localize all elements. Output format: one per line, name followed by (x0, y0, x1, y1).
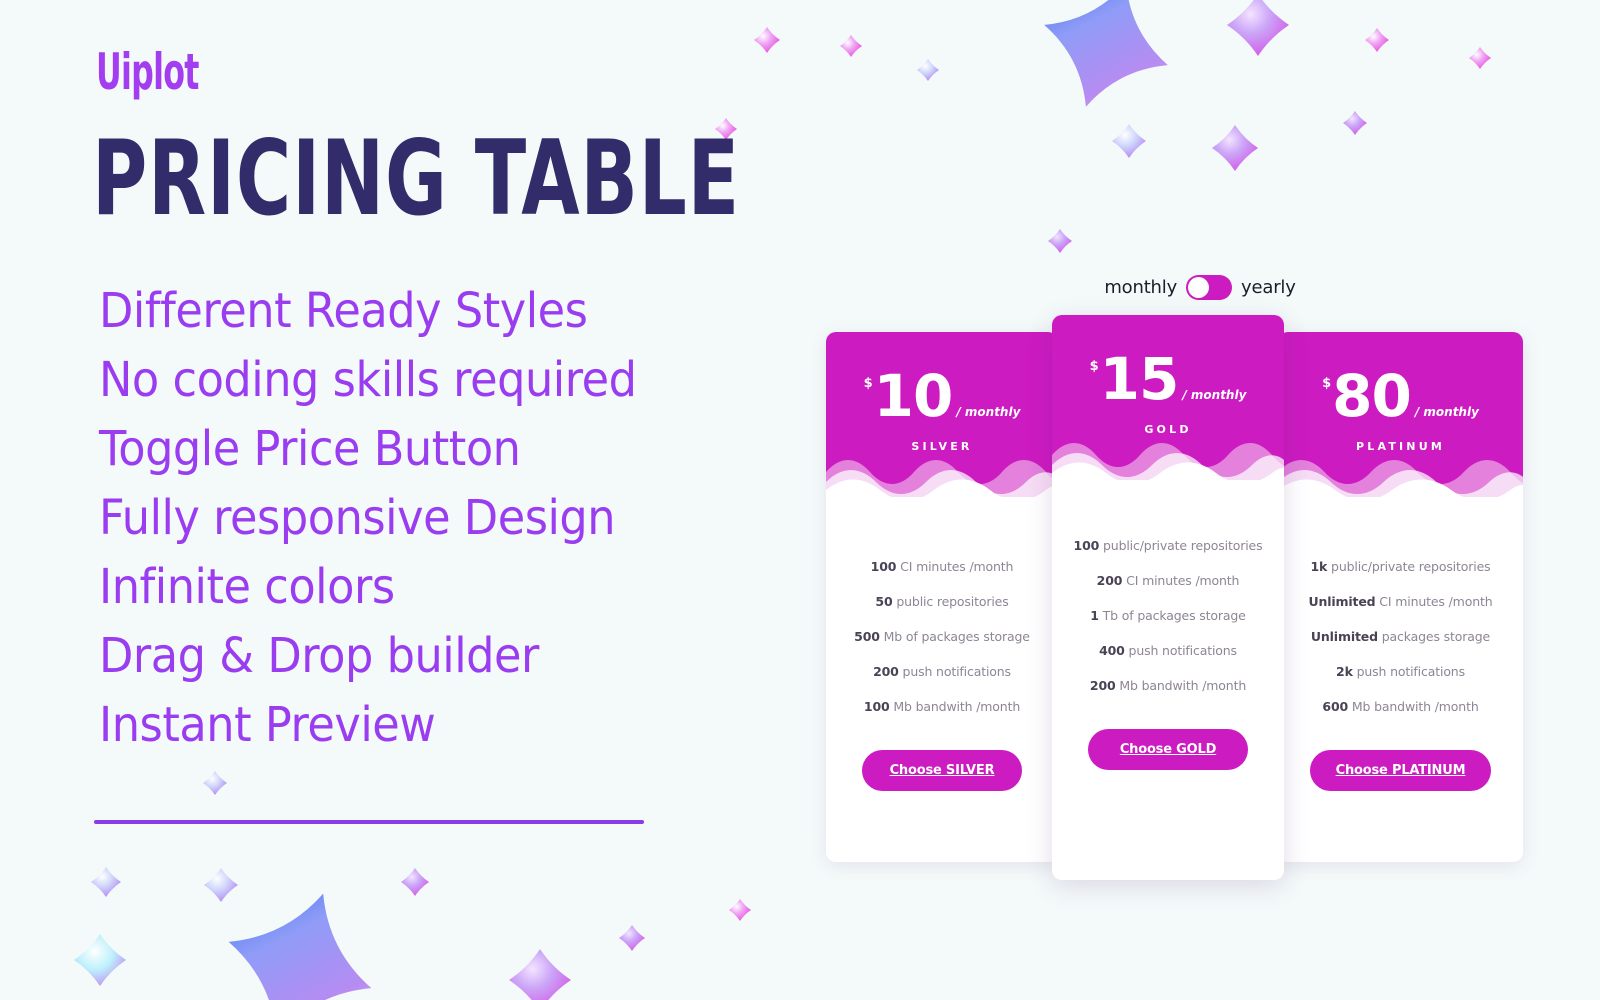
plan-feature-text: CI minutes /month (1122, 573, 1239, 588)
plan-feature-item: 2k push notifications (1278, 654, 1523, 689)
currency-symbol: $ (1322, 376, 1331, 391)
plan-feature-item: 200 CI minutes /month (1052, 563, 1284, 598)
plan-feature-item: 100 CI minutes /month (826, 549, 1058, 584)
plan-feature-text: CI minutes /month (896, 559, 1013, 574)
pricing-card-gold: $ 15 / monthly GOLD 100 public/private r… (1052, 315, 1284, 880)
plan-feature-text: Mb bandwith /month (1116, 678, 1247, 693)
plan-cta-wrap: Choose PLATINUM (1278, 750, 1523, 791)
section-divider (94, 820, 644, 824)
toggle-label-monthly[interactable]: monthly (1104, 277, 1177, 298)
feature-list-item: Fully responsive Design (99, 484, 636, 553)
plan-period: / monthly (1415, 405, 1479, 419)
plan-amount: 80 (1332, 370, 1411, 423)
plan-amount: 15 (1100, 353, 1179, 406)
plan-header-silver: $ 10 / monthly SILVER (826, 332, 1058, 497)
plan-feature-value: 400 (1099, 643, 1125, 658)
plan-feature-value: 50 (875, 594, 892, 609)
plan-feature-text: public/private repositories (1099, 538, 1262, 553)
plan-feature-value: 600 (1322, 699, 1348, 714)
plan-header-platinum: $ 80 / monthly PLATINUM (1278, 332, 1523, 497)
plan-feature-text: Mb bandwith /month (890, 699, 1021, 714)
plan-feature-value: 200 (1097, 573, 1123, 588)
choose-silver-button[interactable]: Choose SILVER (862, 750, 1022, 791)
plan-feature-text: public/private repositories (1327, 559, 1490, 574)
choose-platinum-button[interactable]: Choose PLATINUM (1310, 750, 1492, 791)
plan-feature-value: 200 (1090, 678, 1116, 693)
feature-list-item: Infinite colors (99, 553, 636, 622)
plan-feature-text: Tb of packages storage (1099, 608, 1246, 623)
plan-feature-list: 100 CI minutes /month50 public repositor… (826, 549, 1058, 724)
toggle-label-yearly[interactable]: yearly (1241, 277, 1296, 298)
plan-feature-text: CI minutes /month (1375, 594, 1492, 609)
plan-feature-item: 50 public repositories (826, 584, 1058, 619)
plan-amount: 10 (874, 370, 953, 423)
left-content-panel: Uiplot PRICING TABLE Different Ready Sty… (0, 0, 800, 1000)
billing-period-toggle[interactable]: monthly yearly (800, 275, 1600, 300)
plan-period: / monthly (956, 405, 1020, 419)
plan-feature-item: 1k public/private repositories (1278, 549, 1523, 584)
plan-feature-text: packages storage (1378, 629, 1490, 644)
plan-price-row: $ 80 / monthly (1278, 370, 1523, 423)
pricing-panel: monthly yearly $ 10 / monthly SILVER 100… (800, 0, 1600, 1000)
plan-feature-item: Unlimited CI minutes /month (1278, 584, 1523, 619)
plan-cta-wrap: Choose GOLD (1052, 729, 1284, 770)
currency-symbol: $ (864, 376, 873, 391)
billing-toggle-switch[interactable] (1186, 275, 1232, 300)
plan-feature-item: Unlimited packages storage (1278, 619, 1523, 654)
plan-body-silver: 100 CI minutes /month50 public repositor… (826, 497, 1058, 791)
plan-feature-list: 1k public/private repositoriesUnlimited … (1278, 549, 1523, 724)
plan-feature-text: push notifications (1125, 643, 1237, 658)
plan-feature-item: 200 Mb bandwith /month (1052, 668, 1284, 703)
feature-list: Different Ready StylesNo coding skills r… (99, 277, 677, 760)
feature-list-item: Different Ready Styles (99, 277, 636, 346)
choose-platinum-label: Choose PLATINUM (1336, 763, 1466, 778)
feature-list-item: No coding skills required (99, 346, 636, 415)
plan-feature-item: 100 public/private repositories (1052, 528, 1284, 563)
pricing-card-platinum: $ 80 / monthly PLATINUM 1k public/privat… (1278, 332, 1523, 862)
currency-symbol: $ (1090, 359, 1099, 374)
plan-period: / monthly (1182, 388, 1246, 402)
plan-feature-value: 2k (1336, 664, 1353, 679)
plan-feature-item: 1 Tb of packages storage (1052, 598, 1284, 633)
plan-feature-value: 100 (864, 699, 890, 714)
plan-feature-item: 200 push notifications (826, 654, 1058, 689)
plan-feature-text: public repositories (893, 594, 1009, 609)
pricing-cards-container: $ 10 / monthly SILVER 100 CI minutes /mo… (826, 315, 1574, 885)
plan-cta-wrap: Choose SILVER (826, 750, 1058, 791)
choose-gold-label: Choose GOLD (1120, 742, 1216, 757)
plan-feature-text: push notifications (1353, 664, 1465, 679)
plan-feature-list: 100 public/private repositories200 CI mi… (1052, 528, 1284, 703)
brand-logo: Uiplot (96, 48, 199, 98)
plan-feature-value: 100 (1074, 538, 1100, 553)
plan-feature-value: Unlimited (1309, 594, 1376, 609)
page-title: PRICING TABLE (92, 128, 740, 231)
plan-feature-text: push notifications (899, 664, 1011, 679)
plan-feature-item: 100 Mb bandwith /month (826, 689, 1058, 724)
plan-feature-item: 500 Mb of packages storage (826, 619, 1058, 654)
plan-body-platinum: 1k public/private repositoriesUnlimited … (1278, 497, 1523, 791)
choose-gold-button[interactable]: Choose GOLD (1088, 729, 1248, 770)
plan-body-gold: 100 public/private repositories200 CI mi… (1052, 480, 1284, 770)
plan-feature-text: Mb bandwith /month (1348, 699, 1479, 714)
plan-price-row: $ 10 / monthly (826, 370, 1058, 423)
pricing-card-silver: $ 10 / monthly SILVER 100 CI minutes /mo… (826, 332, 1058, 862)
plan-feature-value: 1 (1090, 608, 1099, 623)
feature-list-item: Toggle Price Button (99, 415, 636, 484)
choose-silver-label: Choose SILVER (890, 763, 995, 778)
plan-feature-value: 100 (871, 559, 897, 574)
plan-header-gold: $ 15 / monthly GOLD (1052, 315, 1284, 480)
plan-feature-item: 600 Mb bandwith /month (1278, 689, 1523, 724)
plan-feature-item: 400 push notifications (1052, 633, 1284, 668)
plan-feature-value: Unlimited (1311, 629, 1378, 644)
plan-feature-text: Mb of packages storage (880, 629, 1030, 644)
plan-feature-value: 200 (873, 664, 899, 679)
plan-feature-value: 1k (1311, 559, 1328, 574)
toggle-knob[interactable] (1188, 277, 1209, 298)
plan-feature-value: 500 (854, 629, 880, 644)
plan-price-row: $ 15 / monthly (1052, 353, 1284, 406)
feature-list-item: Drag & Drop builder (99, 622, 636, 691)
feature-list-item: Instant Preview (99, 691, 636, 760)
